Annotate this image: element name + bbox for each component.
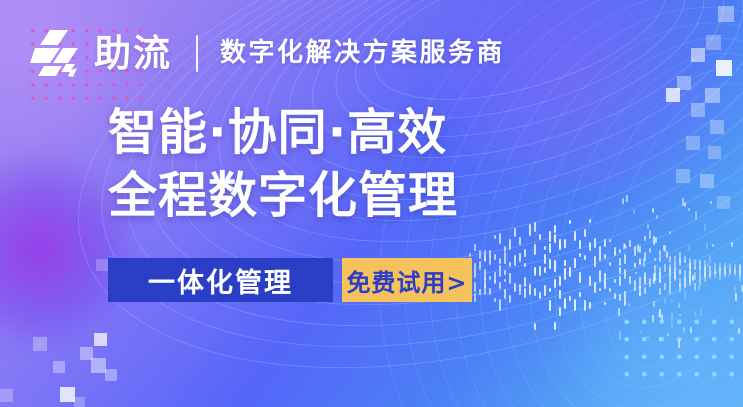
- waveform-dash: [524, 288, 526, 298]
- waveform-dash: [679, 269, 681, 275]
- waveform-dash: [494, 272, 496, 282]
- waveform-dash: [604, 282, 606, 290]
- floating-square: [691, 48, 705, 62]
- waveform-dash: [729, 268, 731, 274]
- waveform-dash: [499, 299, 501, 311]
- waveform-dash: [634, 246, 636, 257]
- waveform-dash: [509, 262, 511, 267]
- floating-square: [74, 397, 85, 407]
- waveform-dash: [709, 270, 711, 277]
- waveform-dash: [489, 256, 491, 266]
- waveform-dash: [694, 283, 696, 291]
- waveform-dash: [624, 302, 626, 307]
- waveform-dash: [664, 283, 666, 290]
- waveform-dash: [654, 258, 656, 261]
- waveform-dash: [689, 258, 691, 269]
- waveform-dash: [549, 259, 551, 269]
- waveform-dash: [604, 273, 606, 285]
- waveform-dash: [519, 284, 521, 292]
- waveform-dash: [652, 208, 654, 213]
- waveform-dash: [639, 277, 641, 288]
- waveform-dash: [599, 246, 601, 253]
- waveform-dash: [649, 278, 651, 287]
- waveform-dash: [724, 270, 726, 275]
- waveform-dash: [489, 276, 491, 280]
- waveform-dash: [694, 267, 696, 271]
- floating-square: [80, 347, 93, 360]
- floating-square: [705, 88, 720, 103]
- waveform-dash: [639, 292, 641, 296]
- waveform-dash: [671, 299, 673, 302]
- waveform-dash: [684, 290, 686, 299]
- waveform-dash: [699, 261, 701, 269]
- waveform-dash: [484, 278, 486, 287]
- waveform-dash: [729, 263, 731, 268]
- waveform-dash: [682, 198, 684, 206]
- waveform-dash: [625, 246, 627, 249]
- waveform-dash: [644, 252, 646, 260]
- waveform-dash: [738, 328, 740, 334]
- waveform-dash: [564, 298, 566, 309]
- waveform-dash: [649, 230, 651, 239]
- waveform-dash: [684, 260, 686, 263]
- waveform-dash: [664, 298, 666, 304]
- waveform-dash: [559, 307, 561, 317]
- waveform-dash: [710, 201, 712, 204]
- waveform-dash: [688, 245, 690, 251]
- waveform-dash: [659, 256, 661, 262]
- waveform-dash: [679, 258, 681, 267]
- waveform-dash: [704, 223, 706, 231]
- waveform-dash: [671, 322, 673, 328]
- waveform-dash: [534, 267, 536, 276]
- waveform-dash: [499, 282, 501, 288]
- waveform-dash: [653, 236, 655, 245]
- waveform-dash: [704, 260, 706, 270]
- waveform-dash: [695, 211, 697, 220]
- waveform-dash: [667, 333, 669, 336]
- free-trial-button[interactable]: 免费试用>: [342, 258, 472, 302]
- waveform-dash: [489, 288, 491, 296]
- waveform-dash: [724, 263, 726, 269]
- waveform-dash: [661, 314, 663, 321]
- waveform-dash: [659, 250, 661, 256]
- waveform-dash: [559, 244, 561, 250]
- waveform-dash: [559, 276, 561, 286]
- waveform-dash: [647, 336, 649, 339]
- floating-square: [33, 337, 47, 351]
- waveform-dash: [504, 246, 506, 252]
- waveform-dash: [704, 265, 706, 276]
- header-divider: [196, 35, 198, 72]
- waveform-dash: [729, 265, 731, 274]
- waveform-dash: [683, 327, 685, 333]
- waveform-dash: [639, 258, 641, 264]
- waveform-dash: [474, 271, 476, 278]
- waveform-dash: [622, 198, 624, 204]
- waveform-dash: [640, 331, 642, 334]
- floating-square: [717, 196, 730, 209]
- waveform-dash: [499, 265, 501, 277]
- waveform-dash: [484, 250, 486, 261]
- waveform-dash: [689, 264, 691, 274]
- waveform-dash: [684, 270, 686, 281]
- waveform-dash: [652, 315, 654, 323]
- waveform-dash: [589, 242, 591, 251]
- waveform-dash: [629, 276, 631, 284]
- waveform-dash: [494, 280, 496, 284]
- glow-blue-bottom: [520, 250, 743, 407]
- waveform-dash: [494, 298, 496, 302]
- waveform-dash: [614, 279, 616, 283]
- waveform-dash: [579, 272, 581, 283]
- waveform-dash: [739, 270, 741, 281]
- floating-square: [686, 136, 700, 150]
- waveform-dash: [689, 262, 691, 273]
- waveform-dash: [694, 259, 696, 269]
- waveform-dash: [644, 236, 646, 241]
- waveform-dash: [684, 202, 686, 207]
- waveform-dash: [714, 263, 716, 266]
- waveform-dash: [554, 234, 556, 243]
- waveform-dash: [629, 240, 631, 247]
- waveform-dash: [609, 288, 611, 292]
- waveform-dash: [514, 255, 516, 265]
- waveform-dash: [734, 285, 736, 292]
- waveform-dash: [634, 263, 636, 268]
- waveform-dash: [569, 267, 571, 277]
- floating-square: [91, 358, 106, 373]
- waveform-dash: [504, 270, 506, 275]
- waveform-dash: [599, 278, 601, 282]
- waveform-dash: [539, 292, 541, 299]
- waveform-dash: [647, 224, 649, 229]
- waveform-dash: [656, 265, 658, 267]
- floating-square: [677, 76, 691, 90]
- waveform-dash: [614, 293, 616, 299]
- waveform-dash: [706, 242, 708, 249]
- waveform-dash: [509, 239, 511, 250]
- waveform-dash: [554, 322, 556, 329]
- waveform-dash: [619, 276, 621, 286]
- waveform-dash: [714, 266, 716, 277]
- waveform-dash: [524, 263, 526, 267]
- waveform-dash: [724, 266, 726, 274]
- waveform-dash: [699, 265, 701, 270]
- waveform-dash: [626, 195, 628, 202]
- waveform-dash: [519, 253, 521, 262]
- waveform-dash: [614, 247, 616, 254]
- waveform-dash: [739, 264, 741, 274]
- waveform-dash: [637, 244, 639, 252]
- waveform-dash: [594, 256, 596, 267]
- waveform-dash: [639, 246, 641, 253]
- waveform-dash: [644, 272, 646, 282]
- waveform-dash: [569, 296, 571, 301]
- cta-row: 一体化管理 免费试用>: [108, 258, 472, 302]
- waveform-dash: [684, 256, 686, 261]
- waveform-dash: [584, 255, 586, 260]
- waveform-dash: [574, 258, 576, 268]
- waveform-dash: [624, 291, 626, 303]
- waveform-dash: [549, 288, 551, 292]
- waveform-dash: [654, 271, 656, 281]
- waveform-dash: [564, 260, 566, 266]
- waveform-dash: [514, 228, 516, 237]
- waveform-dash: [559, 290, 561, 299]
- waveform-dash: [715, 272, 717, 274]
- floating-square: [718, 6, 734, 22]
- waveform-dash: [669, 267, 671, 273]
- waveform-dash: [674, 271, 676, 277]
- waveform-dash: [739, 271, 741, 278]
- waveform-dash: [724, 267, 726, 278]
- waveform-dash: [619, 258, 621, 266]
- waveform-dash: [634, 263, 636, 266]
- waveform-dash: [653, 273, 655, 281]
- waveform-dash: [623, 243, 625, 250]
- waveform-dash: [494, 254, 496, 260]
- waveform-dash: [619, 267, 621, 274]
- waveform-dash: [544, 254, 546, 264]
- headline-line-2: 全程数字化管理: [108, 166, 458, 226]
- waveform-dash: [594, 238, 596, 247]
- waveform-dash: [653, 278, 655, 284]
- waveform-dash: [679, 278, 681, 287]
- waveform-dash: [484, 283, 486, 295]
- waveform-dash: [658, 312, 660, 317]
- waveform-dash: [549, 231, 551, 242]
- floating-square: [105, 369, 117, 381]
- waveform-dash: [534, 244, 536, 255]
- floating-square: [708, 146, 721, 159]
- waveform-dash: [569, 220, 571, 224]
- waveform-dash: [589, 276, 591, 286]
- waveform-dash: [700, 307, 702, 316]
- waveform-dash: [674, 268, 676, 280]
- waveform-dash: [614, 252, 616, 256]
- waveform-dash: [599, 252, 601, 261]
- waveform-dash: [659, 272, 661, 283]
- waveform-dash: [529, 224, 531, 235]
- waveform-dash: [544, 267, 546, 273]
- waveform-dash: [509, 273, 511, 284]
- waveform-dash: [669, 273, 671, 282]
- waveform-dash: [534, 222, 536, 232]
- floating-square: [0, 389, 13, 402]
- waveform-dash: [690, 327, 692, 333]
- waveform-dash: [579, 240, 581, 249]
- waveform-dash: [609, 262, 611, 266]
- waveform-dash: [709, 265, 711, 270]
- waveform-dash: [664, 245, 666, 252]
- headline-line-1: 智能·协同·高效: [108, 103, 458, 163]
- waveform-dash: [659, 288, 661, 296]
- waveform-dash: [644, 276, 646, 285]
- floating-square: [94, 333, 107, 346]
- waveform-dash: [599, 270, 601, 279]
- waveform-dash: [584, 229, 586, 237]
- waveform-dash: [474, 282, 476, 293]
- floating-square: [691, 103, 705, 117]
- waveform-dash: [599, 288, 601, 292]
- waveform-dash: [659, 337, 661, 341]
- waveform-dash: [674, 256, 676, 260]
- waveform-dash: [628, 303, 630, 306]
- waveform-dash: [679, 314, 681, 316]
- waveform-dash: [489, 250, 491, 257]
- waveform-dash: [739, 264, 741, 274]
- waveform-dash: [709, 256, 711, 263]
- waveform-dash: [635, 272, 637, 274]
- waveform-dash: [669, 264, 671, 276]
- waveform-dash: [674, 260, 676, 270]
- waveform-dash: [539, 234, 541, 240]
- waveform-dash: [504, 279, 506, 282]
- waveform-dash: [499, 258, 501, 264]
- cyan-dot-grid: [618, 313, 742, 385]
- brand-tagline: 数字化解决方案服务商: [220, 40, 505, 66]
- waveform-dash: [639, 286, 641, 296]
- waveform-dash: [529, 284, 531, 295]
- waveform-dash: [524, 249, 526, 257]
- waveform-dash: [689, 272, 691, 284]
- waveform-dash: [479, 289, 481, 295]
- brand-header: 助流 数字化解决方案服务商: [30, 28, 505, 78]
- waveform-dash: [678, 340, 680, 348]
- floating-square: [710, 120, 724, 134]
- floating-square: [676, 169, 690, 183]
- waveform-dash: [609, 239, 611, 243]
- waveform-dash: [671, 313, 673, 321]
- waveform-dash: [699, 260, 701, 264]
- waveform-dash: [634, 280, 636, 291]
- waveform-dash: [649, 248, 651, 253]
- floating-square: [716, 60, 732, 76]
- waveform-dash: [584, 300, 586, 311]
- waveform-dash: [504, 252, 506, 263]
- waveform-dash: [666, 251, 668, 258]
- waveform-dash: [735, 293, 737, 301]
- waveform-dash: [544, 285, 546, 295]
- waveform-dash: [704, 274, 706, 279]
- waveform-dash: [624, 254, 626, 263]
- waveform-dash: [689, 271, 691, 277]
- waveform-dash: [739, 266, 741, 270]
- waveform-dash: [669, 256, 671, 263]
- waveform-dash: [663, 245, 665, 251]
- waveform-dash: [618, 308, 620, 316]
- brand-name: 助流: [94, 35, 172, 72]
- waveform-dash: [549, 243, 551, 254]
- floating-square: [706, 35, 721, 50]
- waveform-dash: [484, 255, 486, 262]
- waveform-dash: [654, 265, 656, 272]
- waveform-dash: [679, 284, 681, 292]
- audio-waveform-dashes: [468, 192, 743, 342]
- waveform-dash: [679, 270, 681, 275]
- waveform-dash: [659, 279, 661, 282]
- waveform-dash: [653, 301, 655, 307]
- waveform-dash: [534, 323, 536, 330]
- integrated-management-button[interactable]: 一体化管理: [108, 258, 333, 302]
- waveform-dash: [674, 276, 676, 281]
- waveform-dash: [664, 264, 666, 272]
- waveform-dash: [669, 231, 671, 234]
- waveform-dash: [699, 277, 701, 286]
- waveform-dash: [564, 268, 566, 280]
- waveform-dash: [604, 302, 606, 305]
- waveform-dash: [494, 235, 496, 239]
- waveform-dash: [704, 271, 706, 282]
- waveform-dash: [684, 277, 686, 287]
- waveform-dash: [652, 315, 654, 321]
- waveform-dash: [699, 269, 701, 277]
- waveform-dash: [554, 260, 556, 272]
- waveform-dash: [554, 279, 556, 289]
- waveform-dash: [719, 263, 721, 270]
- waveform-dash: [484, 269, 486, 280]
- waveform-dash: [633, 209, 635, 214]
- waveform-dash: [719, 269, 721, 281]
- waveform-dash: [731, 242, 733, 247]
- waveform-dash: [692, 275, 694, 281]
- waveform-dash: [474, 293, 476, 302]
- waveform-dash: [554, 225, 556, 232]
- waveform-dash: [589, 302, 591, 309]
- waveform-dash: [544, 246, 546, 251]
- waveform-dash: [539, 266, 541, 276]
- waveform-dash: [698, 285, 700, 290]
- lightning-parallelogram-logo-icon: [30, 28, 84, 78]
- waveform-dash: [579, 292, 581, 297]
- waveform-dash: [509, 295, 511, 303]
- waveform-dash: [524, 277, 526, 287]
- waveform-dash: [656, 215, 658, 219]
- cta-spacer: [333, 258, 342, 302]
- floating-square: [96, 259, 108, 271]
- waveform-dash: [619, 249, 621, 253]
- waveform-dash: [549, 300, 551, 311]
- waveform-dash: [499, 233, 501, 244]
- waveform-dash: [669, 282, 671, 294]
- waveform-dash: [707, 262, 709, 267]
- floating-square: [60, 387, 75, 402]
- waveform-dash: [519, 237, 521, 244]
- waveform-dash: [689, 276, 691, 286]
- waveform-dash: [604, 239, 606, 247]
- waveform-dash: [514, 283, 516, 292]
- headline-block: 智能·协同·高效 全程数字化管理: [108, 103, 458, 226]
- waveform-dash: [574, 231, 576, 242]
- waveform-dash: [712, 244, 714, 247]
- waveform-dash: [479, 250, 481, 259]
- waveform-dash: [619, 331, 621, 340]
- waveform-dash: [644, 287, 646, 295]
- waveform-dash: [579, 253, 581, 257]
- waveform-dash: [688, 208, 690, 211]
- waveform-dash: [624, 244, 626, 248]
- waveform-dash: [684, 278, 686, 288]
- waveform-dash: [728, 274, 730, 277]
- promo-banner: 助流 数字化解决方案服务商 智能·协同·高效 全程数字化管理 一体化管理 免费试…: [0, 0, 743, 407]
- waveform-dash: [594, 282, 596, 293]
- waveform-dash: [694, 311, 696, 316]
- waveform-dash: [714, 269, 716, 273]
- waveform-dash: [734, 264, 736, 275]
- waveform-dash: [574, 299, 576, 311]
- floating-square: [666, 88, 680, 102]
